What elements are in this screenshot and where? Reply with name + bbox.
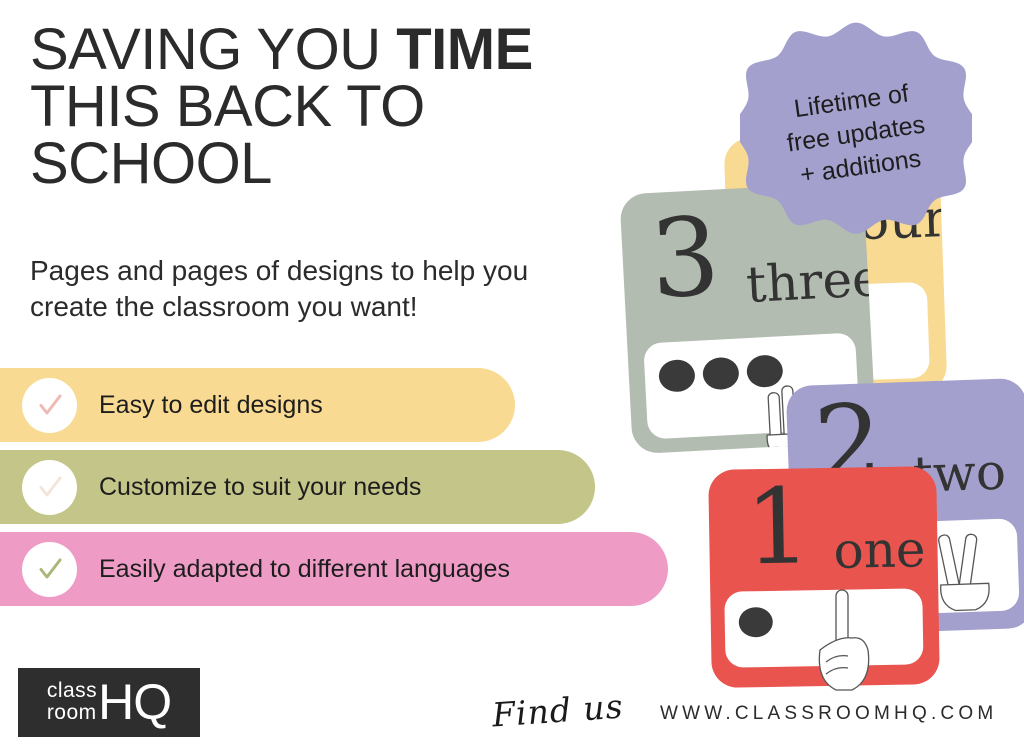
frame-dot (658, 359, 696, 393)
feature-pill-languages[interactable]: Easily adapted to different languages (0, 532, 668, 606)
card-word: one (833, 524, 926, 576)
headline-line-1-emphasis: TIME (396, 17, 533, 82)
headline-line-3: SCHOOL (30, 131, 272, 196)
classroomhq-logo[interactable]: class room HQ (18, 668, 200, 737)
feature-list: Easy to edit designs Customize to suit y… (0, 368, 700, 614)
feature-label: Easy to edit designs (99, 391, 323, 420)
feature-pill-easy-to-edit[interactable]: Easy to edit designs (0, 368, 515, 442)
page-title: SAVING YOU TIME THIS BACK TO SCHOOL (30, 22, 630, 192)
check-icon (22, 378, 77, 433)
check-icon (22, 460, 77, 515)
card-numeral: 1 (744, 474, 812, 579)
subtitle: Pages and pages of designs to help you c… (30, 253, 610, 325)
number-cards-illustration: 4 four 3 three (600, 0, 1024, 700)
badge-text: Lifetime of free updates + additions (725, 3, 987, 265)
feature-pill-customize[interactable]: Customize to suit your needs (0, 450, 595, 524)
logo-line-class: class (47, 680, 97, 701)
headline-line-1-plain: SAVING YOU (30, 17, 396, 82)
logo-hq-mark: HQ (98, 681, 171, 724)
logo-line-room: room (47, 702, 97, 723)
website-url[interactable]: WWW.CLASSROOMHQ.COM (660, 703, 997, 725)
headline-line-2: THIS BACK TO (30, 74, 425, 139)
feature-label: Easily adapted to different languages (99, 555, 510, 584)
lifetime-updates-badge: Lifetime of free updates + additions (740, 18, 972, 250)
check-icon (22, 542, 77, 597)
hand-one-icon (812, 588, 874, 698)
frame-dot (702, 357, 740, 391)
poster-canvas: SAVING YOU TIME THIS BACK TO SCHOOL Page… (0, 0, 1024, 745)
hand-two-icon (933, 529, 994, 617)
frame-dot (739, 607, 774, 638)
feature-label: Customize to suit your needs (99, 473, 421, 502)
card-numeral: 3 (648, 203, 722, 314)
